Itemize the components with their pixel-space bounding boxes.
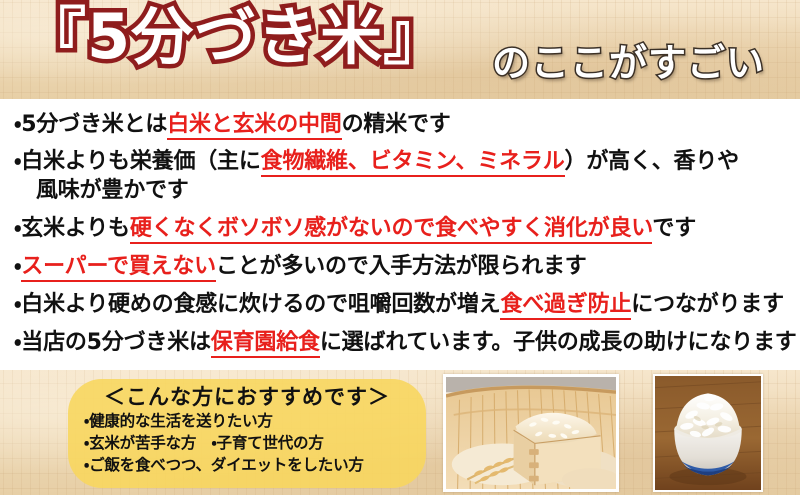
bullet-text-highlight: 保育園給食 [211, 330, 320, 358]
list-item: ・5分づき米とは白米と玄米の中間の精米です [14, 112, 794, 138]
list-item-continuation: 風味が豊かです [36, 178, 800, 204]
recommendation-item: ・健康的な生活を送りたい方 [68, 410, 426, 432]
bullet-text-highlight: 白米と玄米の中間 [167, 112, 341, 140]
bullet-text-post: ことが多いので入手方法が限られます [216, 254, 587, 279]
photo-cooked-rice-bowl [653, 374, 763, 492]
bullet-text-pre: 玄米よりも [21, 216, 130, 241]
bullet-text-post: につながります [631, 292, 784, 317]
recommendation-item: ・ご飯を食べつつ、ダイエットをしたい方 [68, 454, 426, 476]
poster-root: 『5分づき米』 のここがすごい ・5分づき米とは白米と玄米の中間の精米です ・白… [0, 0, 800, 495]
photo-rice-in-masu-box [443, 374, 619, 492]
recommendation-item: ・玄米が苦手な方 ・子育て世代の方 [68, 432, 426, 454]
feature-list: ・5分づき米とは白米と玄米の中間の精米です ・白米よりも栄養価（主に食物繊維、ビ… [0, 99, 800, 370]
bullet-text-highlight: 硬くなくボソボソ感がないので食べやすく消化が良い [130, 216, 653, 244]
bullet-text-post: の精米です [342, 112, 451, 137]
header-band: 『5分づき米』 のここがすごい [0, 0, 800, 99]
bullet-text-pre: 白米より硬めの食感に炊けるので咀嚼回数が増え [21, 292, 500, 317]
bullet-text-highlight: 食物繊維、ビタミン、ミネラル [261, 149, 565, 177]
list-item: ・当店の5分づき米は保育園給食に選ばれています。子供の成長の助けになります [14, 330, 794, 356]
bullet-text-pre: 白米よりも栄養価（主に [21, 149, 260, 174]
bullet-text-pre: 5分づき米とは [21, 112, 167, 137]
recommendation-title: ＜こんな方におすすめです＞ [68, 384, 426, 410]
rice-bowl-illustration [655, 376, 761, 490]
list-item: ・白米よりも栄養価（主に食物繊維、ビタミン、ミネラル）が高く、香りや [14, 149, 794, 175]
bullet-text-highlight: 食べ過ぎ防止 [500, 292, 631, 320]
bullet-text-post: です [652, 216, 696, 241]
recommendation-panel: ＜こんな方におすすめです＞ ・健康的な生活を送りたい方 ・玄米が苦手な方 ・子育… [68, 379, 426, 488]
bullet-text-highlight: スーパーで買えない [21, 254, 216, 282]
page-subtitle: のここがすごい [492, 44, 765, 82]
bullet-text-post: ）が高く、香りや [565, 149, 739, 174]
list-item: ・玄米よりも硬くなくボソボソ感がないので食べやすく消化が良いです [14, 216, 794, 242]
bullet-text-post: に選ばれています。子供の成長の助けになります [320, 330, 797, 355]
page-title: 『5分づき米』 [24, 6, 446, 68]
bullet-text-pre: 当店の5分づき米は [21, 330, 211, 355]
list-item: ・白米より硬めの食感に炊けるので咀嚼回数が増え食べ過ぎ防止につながります [14, 292, 794, 318]
rice-masu-illustration [446, 377, 616, 489]
list-item: ・スーパーで買えないことが多いので入手方法が限られます [14, 254, 794, 280]
